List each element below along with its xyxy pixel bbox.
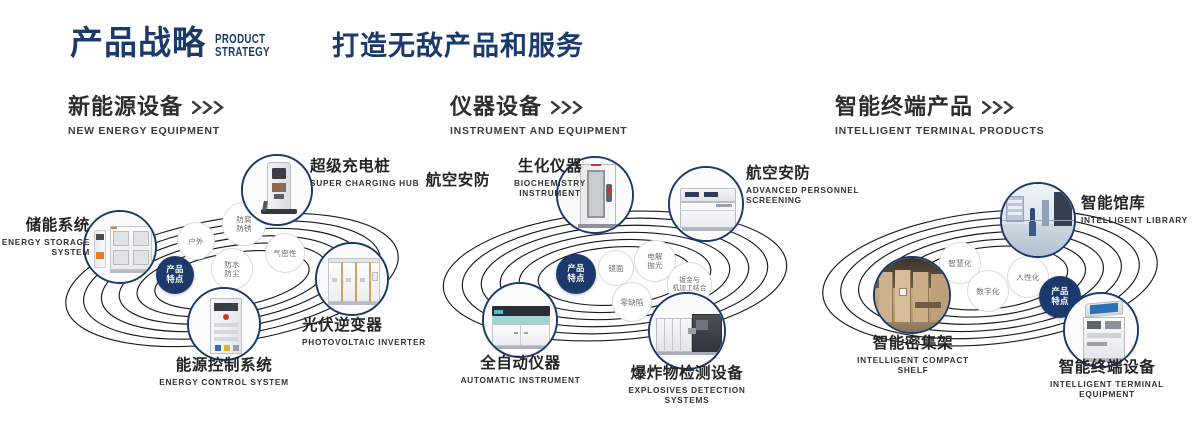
- feature-bubble: 镜面: [598, 250, 634, 286]
- product-label-intelligent-compact-shelf: 智能密集架 INTELLIGENT COMPACT SHELF: [835, 336, 991, 375]
- product-image-energy-storage[interactable]: [83, 210, 157, 284]
- feature-bubble: 户外: [177, 222, 215, 260]
- section-heading-intelligent-terminal: 智能终端产品 INTELLIGENT TERMINAL PRODUCTS: [835, 96, 1044, 137]
- section-title-cn-intelligent-terminal: 智能终端产品: [835, 96, 1044, 118]
- feature-bubble: 防水 防尘: [211, 248, 253, 290]
- product-image-photovoltaic-inverter[interactable]: [315, 242, 389, 316]
- product-label-intelligent-terminal-equipment: 智能终端设备 INTELLIGENT TERMINAL EQUIPMENT: [1027, 360, 1187, 399]
- page-title-cn: 产品战略: [70, 26, 206, 59]
- product-label-automatic-instrument: 全自动仪器 AUTOMATIC INSTRUMENT: [448, 356, 593, 385]
- product-label-explosives-detection: 爆炸物检测设备 EXPLOSIVES DETECTION SYSTEMS: [612, 366, 762, 405]
- core-badge-product-features: 产品 特点: [556, 254, 596, 294]
- product-image-intelligent-library[interactable]: [1000, 182, 1076, 258]
- product-label-energy-storage: 储能系统 ENERGY STORAGE SYSTEM: [0, 218, 90, 257]
- page-header: 产品战略 PRODUCT STRATEGY: [70, 26, 285, 59]
- product-label-energy-control-system: 能源控制系统 ENERGY CONTROL SYSTEM: [139, 358, 309, 387]
- page-subtitle: 打造无敌产品和服务: [332, 33, 584, 60]
- cluster-new-energy: 户外 防腐 防锈 防水 防尘 气密性 产品 特点 储能系统 ENERGY STO…: [55, 160, 415, 395]
- cluster-instrument: 镜面 电解 抛光 钣金与 机加工结合 零缺陷 产品 特点 生化仪器 BIOCHE…: [430, 160, 800, 395]
- section-title-en-instrument: INSTRUMENT AND EQUIPMENT: [450, 125, 627, 137]
- product-image-energy-control-system[interactable]: [187, 287, 261, 361]
- product-label-intelligent-library: 智能馆库 INTELLIGENT LIBRARY: [1081, 196, 1200, 225]
- chevron-right-triple-icon: [982, 101, 1016, 114]
- product-strategy-infographic: 产品战略 PRODUCT STRATEGY 打造无敌产品和服务 新能源设备 NE…: [0, 0, 1200, 422]
- product-label-biochemistry-instrument: 生化仪器 BIOCHEMISTRY INSTRUMENT: [490, 159, 610, 198]
- chevron-right-triple-icon: [551, 101, 585, 114]
- product-image-explosives-detection[interactable]: [648, 292, 726, 370]
- feature-bubble: 数字化: [967, 270, 1009, 312]
- chevron-right-triple-icon: [192, 101, 226, 114]
- product-label-aviation-security: 航空安防: [400, 173, 490, 190]
- feature-bubble: 零缺陷: [612, 282, 652, 322]
- product-image-automatic-instrument[interactable]: [482, 282, 558, 358]
- section-title-en-intelligent-terminal: INTELLIGENT TERMINAL PRODUCTS: [835, 125, 1044, 137]
- feature-bubble: 气密性: [265, 233, 305, 273]
- product-image-intelligent-terminal-equipment[interactable]: [1063, 292, 1139, 368]
- section-title-cn-new-energy: 新能源设备: [68, 96, 226, 118]
- section-title-en-new-energy: NEW ENERGY EQUIPMENT: [68, 125, 226, 137]
- product-image-super-charging-hub[interactable]: [241, 154, 313, 226]
- product-image-advanced-personnel-screening[interactable]: [668, 166, 744, 242]
- product-image-intelligent-compact-shelf[interactable]: [873, 256, 951, 334]
- page-title-en: PRODUCT STRATEGY: [215, 33, 270, 58]
- product-label-photovoltaic-inverter: 光伏逆变器 PHOTOVOLTAIC INVERTER: [302, 318, 447, 347]
- cluster-intelligent-terminal: 智慧化 数字化 人性化 产品 特点 智能馆库 INTELLIGENT LIBRA…: [815, 160, 1175, 395]
- section-title-cn-instrument: 仪器设备: [450, 96, 627, 118]
- section-heading-instrument: 仪器设备 INSTRUMENT AND EQUIPMENT: [450, 96, 627, 137]
- section-heading-new-energy: 新能源设备 NEW ENERGY EQUIPMENT: [68, 96, 226, 137]
